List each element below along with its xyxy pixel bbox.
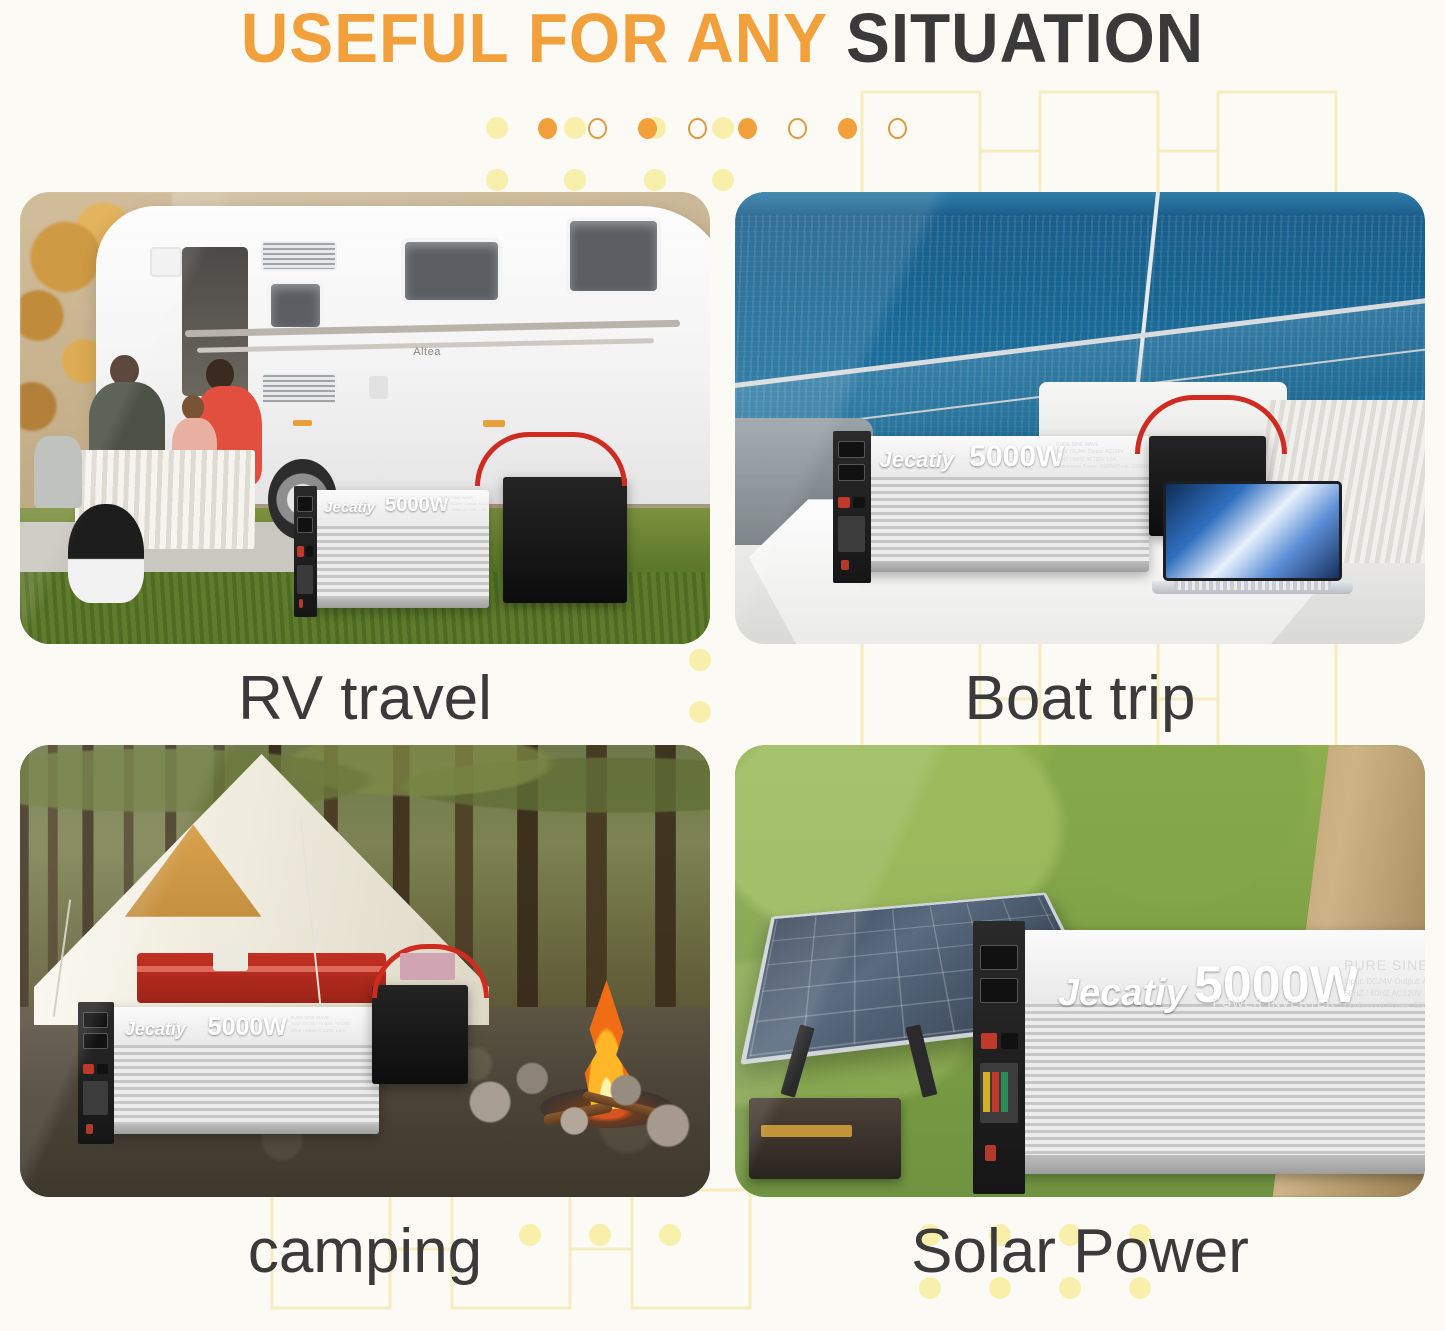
- inverter-spec: PURE SINE WAVE Input: DC24V Output: AC12…: [1344, 955, 1425, 1012]
- fire-ring-rocks: [462, 1043, 697, 1161]
- dot-hollow-1: [588, 118, 607, 139]
- power-inverter: Jecatiy 5000W POWER INVERTER PURE SINE W…: [1011, 930, 1425, 1174]
- page-title-rest: SITUATION: [846, 0, 1204, 77]
- battery: [503, 477, 627, 604]
- dog: [68, 504, 144, 603]
- laptop: [1163, 481, 1342, 580]
- use-case-grid: Altea: [20, 192, 1425, 1197]
- negative-terminal: [853, 497, 864, 508]
- inverter-spec: PURE SINE WAVE Input: DC24V Output: AC12…: [439, 495, 489, 513]
- page-title-highlight: USEFUL FOR ANY: [241, 0, 846, 77]
- photo-rv-travel: Altea: [20, 192, 710, 644]
- inverter-brand: Jecatiy: [125, 1019, 186, 1040]
- lcd-display: [980, 1063, 1018, 1123]
- inverter-subtitle: POWER INVERTER: [981, 466, 1059, 473]
- dot-hollow-2: [688, 118, 707, 139]
- positive-terminal: [981, 1033, 998, 1049]
- battery-box: [749, 1098, 901, 1179]
- caption-boat-trip: Boat trip: [735, 652, 1425, 744]
- power-switch: [985, 1145, 996, 1161]
- battery: [372, 985, 469, 1084]
- dot-separator: [0, 118, 1445, 139]
- ac-outlet: [83, 1012, 108, 1028]
- photo-boat-trip: Jecatiy 5000W POWER INVERTER PURE SINE W…: [735, 192, 1425, 644]
- power-inverter: Jecatiy 5000W POWER INVERTER PURE SINE W…: [859, 436, 1149, 572]
- laptop-keyboard: [1174, 581, 1332, 590]
- ac-outlet: [297, 517, 313, 533]
- caption-solar-power: Solar Power: [735, 1205, 1425, 1297]
- use-case-rv-travel: Altea: [20, 192, 710, 744]
- inverter-end-panel: [294, 486, 317, 618]
- inverter-end-panel: [973, 921, 1025, 1194]
- caption-camping: camping: [20, 1205, 710, 1297]
- inverter-brand: Jecatiy: [879, 447, 954, 473]
- inverter-end-panel: [833, 431, 871, 583]
- page-title: USEFUL FOR ANY SITUATION: [43, 0, 1401, 76]
- red-bedding: [137, 953, 385, 1003]
- inverter-end-panel: [78, 1002, 114, 1144]
- negative-terminal: [306, 546, 313, 557]
- dot-filled-4: [838, 118, 857, 139]
- inverter-subtitle: POWER INVERTER: [1213, 996, 1336, 1010]
- ac-outlet: [838, 464, 864, 481]
- dot-filled-2: [638, 118, 657, 139]
- negative-terminal: [1001, 1033, 1018, 1049]
- inverter-brand: Jecatiy: [1058, 972, 1187, 1015]
- inverter-subtitle: POWER INVERTER: [391, 514, 450, 520]
- ac-outlet: [83, 1033, 108, 1049]
- inverter-subtitle: POWER INVERTER: [219, 1036, 288, 1042]
- ac-outlet: [980, 978, 1018, 1003]
- use-case-solar-power: Jecatiy 5000W POWER INVERTER PURE SINE W…: [735, 745, 1425, 1297]
- power-inverter: Jecatiy 5000W POWER INVERTER PURE SINE W…: [310, 490, 489, 608]
- power-inverter: Jecatiy 5000W POWER INVERTER PURE SINE W…: [103, 1007, 379, 1134]
- marketing-image-root: USEFUL FOR ANY SITUATION: [0, 0, 1445, 1331]
- use-case-boat-trip: Jecatiy 5000W POWER INVERTER PURE SINE W…: [735, 192, 1425, 744]
- positive-terminal: [838, 497, 849, 508]
- positive-terminal: [83, 1064, 94, 1074]
- negative-terminal: [97, 1064, 108, 1074]
- laptop-screen: [1163, 481, 1342, 580]
- inverter-brand: Jecatiy: [324, 499, 375, 516]
- photo-camping: Jecatiy 5000W POWER INVERTER PURE SINE W…: [20, 745, 710, 1197]
- inverter-spec: PURE SINE WAVE Input: DC24V Output: AC12…: [290, 1015, 351, 1035]
- dot-hollow-4: [888, 118, 907, 139]
- photo-solar-power: Jecatiy 5000W POWER INVERTER PURE SINE W…: [735, 745, 1425, 1197]
- ac-outlet: [297, 496, 313, 512]
- dot-hollow-3: [788, 118, 807, 139]
- dot-filled-1: [538, 118, 557, 139]
- positive-terminal: [297, 546, 304, 557]
- dot-filled-3: [738, 118, 757, 139]
- ac-outlet: [980, 945, 1018, 970]
- use-case-camping: Jecatiy 5000W POWER INVERTER PURE SINE W…: [20, 745, 710, 1297]
- ac-outlet: [838, 441, 864, 458]
- caption-rv-travel: RV travel: [20, 652, 710, 744]
